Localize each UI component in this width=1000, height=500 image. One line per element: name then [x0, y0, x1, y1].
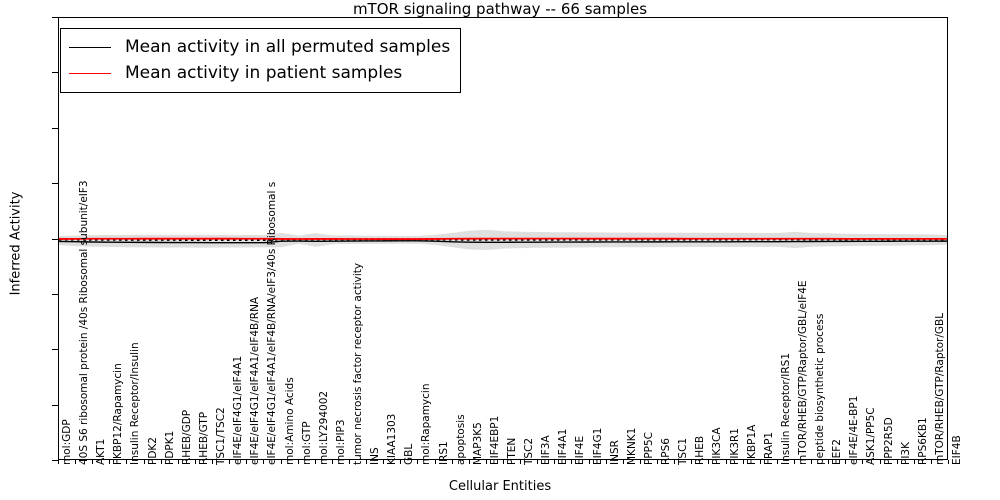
x-tick-label: eIF4E/eIF4G1/eIF4A1/eIF4B/RNA/eIF3/40s R… — [267, 182, 278, 465]
x-tick-label: INSR — [610, 440, 621, 465]
chart-legend: Mean activity in all permuted samples Me… — [60, 28, 461, 93]
x-tick-mark — [657, 460, 658, 464]
x-tick-label: RHEB — [695, 436, 706, 465]
x-tick-label: PDK2 — [148, 437, 159, 465]
x-tick-label: mol:GTP — [302, 421, 313, 465]
x-tick-mark — [845, 460, 846, 464]
x-tick-mark — [862, 460, 863, 464]
x-tick-label: FKBP12/Rapamycin — [113, 363, 124, 465]
x-tick-mark — [246, 460, 247, 464]
x-tick-label: EIF4B — [952, 435, 963, 465]
x-tick-label: eIF4E/eIF4G1/eIF4A1 — [233, 356, 244, 465]
x-tick-mark — [777, 460, 778, 464]
x-tick-mark — [212, 460, 213, 464]
x-tick-mark — [92, 460, 93, 464]
x-tick-mark — [674, 460, 675, 464]
x-tick-label: AKT1 — [96, 439, 107, 465]
x-tick-label: eIF4E/eIF4G1/eIF4A1/eIF4B/RNA — [250, 297, 261, 465]
x-tick-mark — [931, 460, 932, 464]
x-tick-label: RHEB/GDP — [182, 410, 193, 465]
x-tick-label: IRS1 — [439, 441, 450, 465]
chart-figure: mTOR signaling pathway -- 66 samples Inf… — [0, 0, 1000, 500]
x-tick-mark — [298, 460, 299, 464]
x-tick-mark — [897, 460, 898, 464]
x-tick-label: PPP5C — [644, 432, 655, 465]
x-tick-label: ASK1/PP5C — [866, 407, 877, 465]
x-tick-mark — [75, 460, 76, 464]
x-tick-label: PI3K — [901, 442, 912, 465]
x-tick-label: peptide biosynthetic process — [815, 314, 826, 465]
x-tick-mark — [537, 460, 538, 464]
x-tick-mark — [811, 460, 812, 464]
x-tick-mark — [435, 460, 436, 464]
x-tick-label: TSC1 — [678, 438, 689, 465]
x-tick-mark — [400, 460, 401, 464]
x-tick-label: eIF4E/4E-BP1 — [849, 396, 860, 465]
x-tick-label: Insulin Receptor/Insulin — [130, 342, 141, 465]
x-tick-mark — [828, 460, 829, 464]
x-tick-mark — [229, 460, 230, 464]
x-tick-label: PTEN — [507, 438, 518, 465]
x-tick-label: GBL — [404, 444, 415, 465]
x-tick-label: 40S S6 ribosomal protein /40s Ribosomal … — [79, 180, 90, 465]
chart-title: mTOR signaling pathway -- 66 samples — [0, 0, 1000, 18]
x-tick-mark — [691, 460, 692, 464]
x-tick-label: INS — [370, 447, 381, 465]
x-tick-mark — [263, 460, 264, 464]
x-tick-label: EIF3A — [541, 435, 552, 465]
legend-item-permuted: Mean activity in all permuted samples — [69, 34, 450, 60]
x-tick-mark — [760, 460, 761, 464]
x-tick-label: FRAP1 — [764, 432, 775, 465]
x-tick-label: Insulin Receptor/IRS1 — [781, 353, 792, 465]
x-tick-mark — [332, 460, 333, 464]
x-tick-label: mol:Amino Acids — [285, 377, 296, 465]
x-tick-label: EIF4E — [575, 436, 586, 465]
x-tick-label: EEF2 — [832, 439, 843, 465]
x-tick-mark — [349, 460, 350, 464]
x-tick-mark — [554, 460, 555, 464]
x-tick-mark — [726, 460, 727, 464]
x-tick-label: RPS6KB1 — [918, 417, 929, 465]
x-tick-label: PPP2R5D — [884, 417, 895, 465]
legend-item-patient: Mean activity in patient samples — [69, 60, 450, 86]
x-tick-mark — [708, 460, 709, 464]
x-tick-mark — [383, 460, 384, 464]
x-tick-mark — [178, 460, 179, 464]
x-tick-mark — [520, 460, 521, 464]
x-tick-label: EIF4A1 — [558, 429, 569, 465]
x-tick-mark — [948, 460, 949, 464]
legend-swatch-permuted — [69, 47, 111, 48]
x-tick-mark — [606, 460, 607, 464]
x-tick-label: mTOR/RHEB/GTP/Raptor/GBL/eIF4E — [798, 280, 809, 465]
x-tick-mark — [315, 460, 316, 464]
x-tick-label: mol:Rapamycin — [421, 384, 432, 466]
x-tick-label: RPS6 — [661, 438, 672, 465]
x-tick-mark — [589, 460, 590, 464]
x-tick-mark — [161, 460, 162, 464]
x-tick-label: RHEB/GTP — [199, 412, 210, 465]
x-tick-label: apoptosis — [456, 414, 467, 465]
x-tick-label: mol:GDP — [62, 419, 73, 465]
legend-label-patient: Mean activity in patient samples — [125, 63, 402, 83]
x-tick-label: TSC2 — [524, 438, 535, 465]
x-tick-label: MKNK1 — [627, 428, 638, 465]
x-tick-label: PDPK1 — [165, 431, 176, 465]
x-tick-label: FKBP1A — [747, 425, 758, 465]
x-tick-label: mTOR/RHEB/GTP/Raptor/GBL — [935, 313, 946, 465]
legend-swatch-patient — [69, 73, 111, 74]
x-tick-mark — [486, 460, 487, 464]
x-tick-mark — [144, 460, 145, 464]
x-tick-mark — [58, 460, 59, 464]
x-tick-label: mol:PIP3 — [336, 419, 347, 465]
x-tick-label: PIK3CA — [712, 427, 723, 465]
x-tick-mark — [794, 460, 795, 464]
x-tick-mark — [914, 460, 915, 464]
x-tick-mark — [366, 460, 367, 464]
x-tick-label: TSC1/TSC2 — [216, 407, 227, 465]
x-tick-mark — [417, 460, 418, 464]
x-tick-mark — [109, 460, 110, 464]
x-tick-label: tumor necrosis factor receptor activity — [353, 263, 364, 465]
y-axis-label: Inferred Activity — [9, 134, 24, 354]
x-tick-label: KIAA1303 — [387, 414, 398, 465]
x-tick-label: PIK3R1 — [730, 428, 741, 465]
x-tick-mark — [469, 460, 470, 464]
x-tick-mark — [571, 460, 572, 464]
x-tick-label: EIF4G1 — [593, 428, 604, 465]
x-tick-mark — [281, 460, 282, 464]
x-tick-label: EIF4EBP1 — [490, 416, 501, 465]
legend-label-permuted: Mean activity in all permuted samples — [125, 37, 450, 57]
x-tick-label: MAP3K5 — [473, 422, 484, 465]
x-tick-mark — [640, 460, 641, 464]
x-tick-mark — [623, 460, 624, 464]
x-tick-mark — [743, 460, 744, 464]
x-tick-label: mol:LY294002 — [319, 391, 330, 465]
x-tick-mark — [452, 460, 453, 464]
x-tick-mark — [195, 460, 196, 464]
x-tick-mark — [126, 460, 127, 464]
x-tick-mark — [880, 460, 881, 464]
x-tick-mark — [503, 460, 504, 464]
x-axis-label: Cellular Entities — [0, 479, 1000, 494]
